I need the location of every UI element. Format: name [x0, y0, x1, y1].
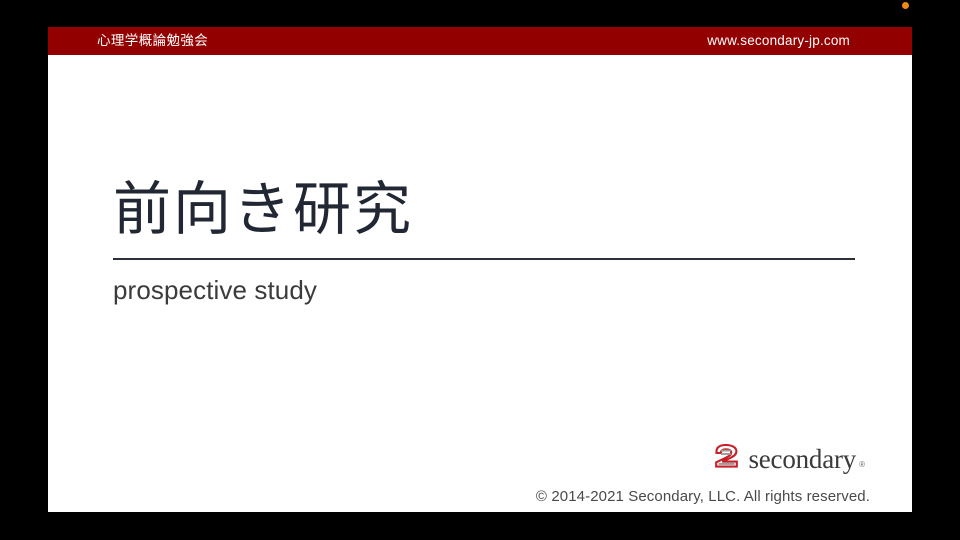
copyright-notice: © 2014-2021 Secondary, LLC. All rights r…: [536, 489, 870, 504]
secondary-books-logo-icon: [713, 444, 743, 472]
slide-header-band: 心理学概論勉強会 www.secondary-jp.com: [48, 27, 912, 55]
brand-name: secondary: [748, 446, 856, 473]
slide: 心理学概論勉強会 www.secondary-jp.com 前向き研究 pros…: [48, 27, 912, 512]
slide-subtitle: prospective study: [113, 276, 855, 305]
slide-title: 前向き研究: [113, 180, 855, 241]
registered-trademark-mark: ®: [859, 461, 865, 469]
slide-header-url[interactable]: www.secondary-jp.com: [707, 34, 850, 48]
slide-header-title: 心理学概論勉強会: [97, 34, 208, 48]
title-block: 前向き研究 prospective study: [113, 180, 855, 304]
recording-status-dot: [902, 2, 909, 9]
slide-body: 前向き研究 prospective study secondary ® © 20…: [48, 55, 912, 512]
presentation-viewer: 心理学概論勉強会 www.secondary-jp.com 前向き研究 pros…: [0, 0, 960, 540]
title-divider-rule: [113, 258, 855, 260]
brand-lockup: secondary ®: [713, 444, 867, 472]
